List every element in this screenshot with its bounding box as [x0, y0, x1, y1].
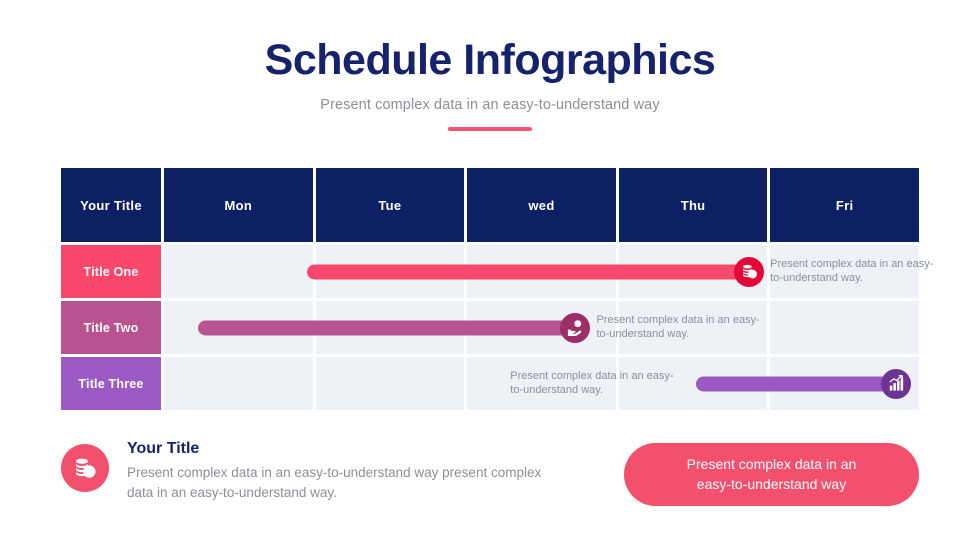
schedule-cell — [467, 245, 616, 298]
svg-text:$: $ — [87, 467, 92, 477]
schedule-cell — [770, 245, 919, 298]
page-subtitle: Present complex data in an easy-to-under… — [0, 97, 980, 113]
schedule-cell — [467, 357, 616, 410]
cta-line-1: Present complex data in an — [687, 455, 857, 475]
schedule-cell — [164, 245, 313, 298]
row-label-1[interactable]: Title One — [61, 245, 161, 298]
schedule-cell — [619, 301, 768, 354]
table-header-row: Your TitleMonTuewedThuFri — [61, 168, 919, 242]
table-row: Title One$Present complex data in an eas… — [61, 245, 919, 298]
schedule-cell — [164, 357, 313, 410]
schedule-cell — [619, 357, 768, 410]
cta-line-2: easy-to-understand way — [687, 475, 857, 495]
accent-divider — [448, 127, 532, 131]
schedule-cell — [619, 245, 768, 298]
page-title: Schedule Infographics — [0, 38, 980, 83]
coins-icon: $ — [61, 444, 109, 492]
column-header-mon: Mon — [164, 168, 313, 242]
schedule-cell — [770, 301, 919, 354]
schedule-cell — [164, 301, 313, 354]
column-header-fri: Fri — [770, 168, 919, 242]
column-header-wed: wed — [467, 168, 616, 242]
table-row: Title ThreePresent complex data in an ea… — [61, 357, 919, 410]
schedule-cell — [467, 301, 616, 354]
cta-button[interactable]: Present complex data in an easy-to-under… — [624, 443, 919, 506]
schedule-cell — [316, 357, 465, 410]
table-row: Title TwoPresent complex data in an easy… — [61, 301, 919, 354]
column-header-thu: Thu — [619, 168, 768, 242]
footer-info-block: $ Your Title Present complex data in an … — [61, 440, 621, 502]
schedule-table: Your TitleMonTuewedThuFri Title One$Pres… — [61, 168, 919, 413]
schedule-cell — [316, 301, 465, 354]
column-header-tue: Tue — [316, 168, 465, 242]
row-label-2[interactable]: Title Two — [61, 301, 161, 354]
footer-description: Present complex data in an easy-to-under… — [127, 463, 557, 502]
schedule-cell — [770, 357, 919, 410]
page-header: Schedule Infographics Present complex da… — [0, 0, 980, 131]
footer-title: Your Title — [127, 440, 557, 458]
table-body: Title One$Present complex data in an eas… — [61, 245, 919, 410]
schedule-cell — [316, 245, 465, 298]
row-label-3[interactable]: Title Three — [61, 357, 161, 410]
footer-section: $ Your Title Present complex data in an … — [61, 440, 919, 506]
column-header-title: Your Title — [61, 168, 161, 242]
